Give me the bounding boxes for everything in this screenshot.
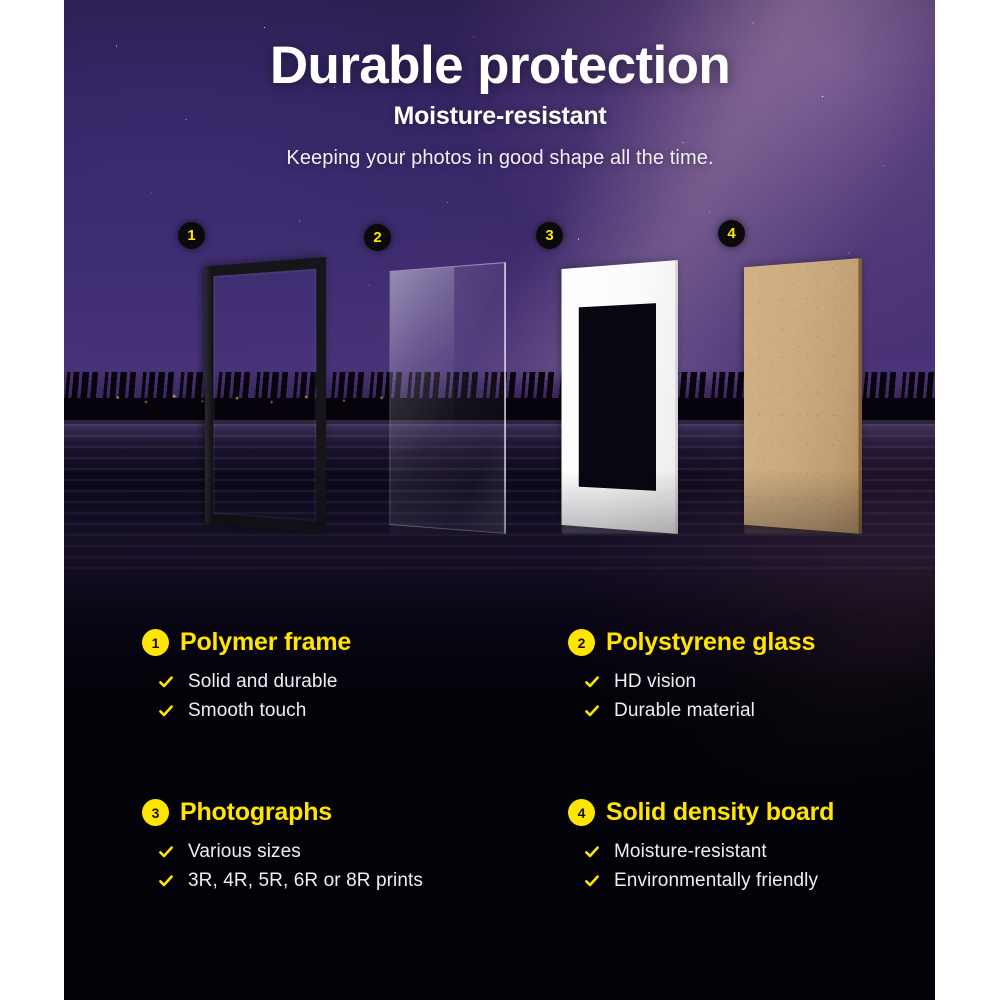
density-board-panel (744, 258, 862, 534)
feature-title-row-3: 3 Photographs (142, 798, 516, 827)
feature-block-2: 2 Polystyrene glass HD vision (516, 628, 890, 722)
list-item-label: Moisture-resistant (614, 841, 767, 863)
list-item-label: 3R, 4R, 5R, 6R or 8R prints (188, 870, 423, 892)
photograph-mat-panel (561, 260, 678, 534)
check-icon (584, 703, 600, 719)
check-icon (158, 674, 174, 690)
list-item-label: Various sizes (188, 841, 301, 863)
feature-title-1: Polymer frame (180, 628, 351, 657)
list-item: Smooth touch (158, 700, 516, 722)
header-block: Durable protection Moisture-resistant Ke… (64, 0, 936, 170)
list-item: Various sizes (158, 841, 516, 863)
list-item-label: Durable material (614, 700, 755, 722)
list-item: 3R, 4R, 5R, 6R or 8R prints (158, 870, 516, 892)
feature-title-row-2: 2 Polystyrene glass (568, 628, 890, 657)
feature-badge-2: 2 (568, 629, 595, 656)
polymer-frame-side-edge (205, 266, 214, 524)
feature-title-2: Polystyrene glass (606, 628, 815, 657)
feature-items-2: HD vision Durable material (568, 671, 890, 722)
list-item: Solid and durable (158, 671, 516, 693)
layer-badge-1: 1 (178, 222, 205, 249)
page-subtitle: Moisture-resistant (64, 102, 936, 131)
feature-row-2: 3 Photographs Various sizes (142, 798, 890, 892)
list-item: Environmentally friendly (584, 870, 890, 892)
infographic-page: Durable protection Moisture-resistant Ke… (0, 0, 1000, 1000)
check-icon (584, 844, 600, 860)
feature-items-1: Solid and durable Smooth touch (142, 671, 516, 722)
list-item: HD vision (584, 671, 890, 693)
feature-items-3: Various sizes 3R, 4R, 5R, 6R or 8R print… (142, 841, 516, 892)
mat-window-cutout (579, 303, 656, 491)
feature-badge-3: 3 (142, 799, 169, 826)
check-icon (584, 873, 600, 889)
feature-items-4: Moisture-resistant Environmentally frien… (568, 841, 890, 892)
right-margin (935, 0, 1000, 1000)
list-item-label: Solid and durable (188, 671, 338, 693)
polymer-frame-panel (205, 257, 326, 533)
layer-badge-2: 2 (364, 224, 391, 251)
glass-sheen-highlight (390, 267, 454, 529)
feature-badge-1: 1 (142, 629, 169, 656)
check-icon (158, 844, 174, 860)
list-item-label: Smooth touch (188, 700, 306, 722)
feature-block-3: 3 Photographs Various sizes (142, 798, 516, 892)
feature-block-1: 1 Polymer frame Solid and durable (142, 628, 516, 722)
list-item: Moisture-resistant (584, 841, 890, 863)
feature-row-1: 1 Polymer frame Solid and durable (142, 628, 890, 722)
page-tagline: Keeping your photos in good shape all th… (64, 147, 936, 170)
feature-grid: 1 Polymer frame Solid and durable (64, 628, 936, 892)
polymer-frame-inner-edge (213, 269, 316, 522)
check-icon (584, 674, 600, 690)
list-item-label: Environmentally friendly (614, 870, 818, 892)
layer-badge-3: 3 (536, 222, 563, 249)
polystyrene-glass-panel (389, 262, 506, 534)
feature-title-row-4: 4 Solid density board (568, 798, 890, 827)
scene: Durable protection Moisture-resistant Ke… (64, 0, 936, 1000)
check-icon (158, 703, 174, 719)
feature-title-3: Photographs (180, 798, 332, 827)
list-item-label: HD vision (614, 671, 696, 693)
page-title: Durable protection (64, 38, 936, 93)
feature-title-row-1: 1 Polymer frame (142, 628, 516, 657)
feature-badge-4: 4 (568, 799, 595, 826)
left-margin (0, 0, 64, 1000)
check-icon (158, 873, 174, 889)
feature-block-4: 4 Solid density board Moisture-resistant (516, 798, 890, 892)
layer-badge-4: 4 (718, 220, 745, 247)
feature-title-4: Solid density board (606, 798, 834, 827)
list-item: Durable material (584, 700, 890, 722)
